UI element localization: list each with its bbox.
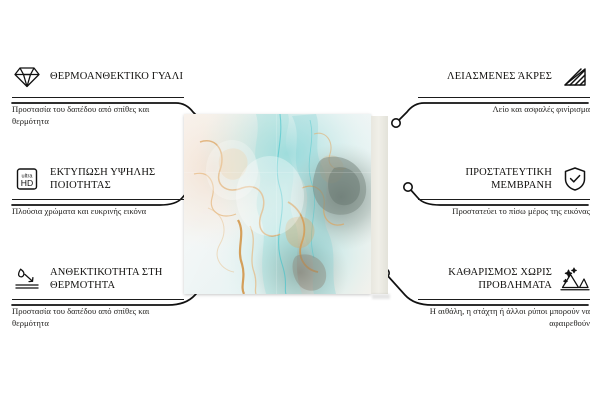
glass-reflection-overlay — [184, 114, 371, 294]
feature-divider — [12, 97, 184, 98]
product-image — [184, 114, 388, 294]
feature-title: ΠΡΟΣΤΑΤΕΥΤΙΚΗ ΜΕΜΒΡΑΝΗ — [418, 166, 552, 193]
panel-side-edge — [371, 116, 388, 294]
connector-dot-protective-film — [404, 183, 412, 191]
feature-title: ΘΕΡΜΟΑΝΘΕΚΤΙΚΟ ΓΥΑΛΙ — [50, 70, 183, 83]
polished-edges-icon — [560, 62, 590, 92]
feature-heat-glass: ΘΕΡΜΟΑΝΘΕΚΤΙΚΟ ΓΥΑΛΙ Προστασία του δαπέδ… — [12, 62, 184, 127]
feature-divider — [418, 97, 590, 98]
feature-heading: ΛΕΙΑΣΜΕΝΕΣ ΆΚΡΕΣ — [418, 62, 590, 92]
infographic-canvas: ΘΕΡΜΟΑΝΘΕΚΤΙΚΟ ΓΥΑΛΙ Προστασία του δαπέδ… — [0, 0, 600, 400]
feature-polished-edges: ΛΕΙΑΣΜΕΝΕΣ ΆΚΡΕΣ Λείο και ασφαλές φινίρι… — [418, 62, 590, 115]
feature-divider — [12, 199, 184, 200]
feature-title: ΚΑΘΑΡΙΣΜΟΣ ΧΩΡΙΣ ΠΡΟΒΛΗΜΑΤΑ — [418, 266, 552, 293]
feature-divider — [12, 299, 184, 300]
feature-description: Προστασία του δαπέδου από σπίθες και θερ… — [12, 103, 184, 127]
connector-dot-polished-edges — [392, 119, 400, 127]
feature-description: Λείο και ασφαλές φινίρισμα — [418, 103, 590, 115]
feature-print-quality: ultra HD ΕΚΤΥΠΩΣΗ ΥΨΗΛΗΣ ΠΟΙΟΤΗΤΑΣ Πλούσ… — [12, 164, 184, 217]
feature-description: Πλούσια χρώματα και ευκρινής εικόνα — [12, 205, 184, 217]
ultra-hd-bottom-text: HD — [21, 178, 33, 188]
glass-panel — [184, 114, 371, 294]
feature-heading: ΠΡΟΣΤΑΤΕΥΤΙΚΗ ΜΕΜΒΡΑΝΗ — [418, 164, 590, 194]
flame-heat-resistance-icon — [12, 264, 42, 294]
feature-title: ΑΝΘΕΚΤΙΚΟΤΗΤΑ ΣΤΗ ΘΕΡΜΟΤΗΤΑ — [50, 266, 184, 293]
feature-heading: ΘΕΡΜΟΑΝΘΕΚΤΙΚΟ ΓΥΑΛΙ — [12, 62, 184, 92]
feature-divider — [418, 199, 590, 200]
feature-title: ΕΚΤΥΠΩΣΗ ΥΨΗΛΗΣ ΠΟΙΟΤΗΤΑΣ — [50, 166, 184, 193]
feature-protective-film: ΠΡΟΣΤΑΤΕΥΤΙΚΗ ΜΕΜΒΡΑΝΗ Προστατεύει το πί… — [418, 164, 590, 217]
feature-heading: ΚΑΘΑΡΙΣΜΟΣ ΧΩΡΙΣ ΠΡΟΒΛΗΜΑΤΑ — [418, 264, 590, 294]
diamond-icon — [12, 62, 42, 92]
ultra-hd-badge-icon: ultra HD — [12, 164, 42, 194]
feature-description: Προστατεύει το πίσω μέρος της εικόνας — [418, 205, 590, 217]
feature-easy-cleaning: ΚΑΘΑΡΙΣΜΟΣ ΧΩΡΙΣ ΠΡΟΒΛΗΜΑΤΑ Η αιθάλη, η … — [418, 264, 590, 329]
feature-title: ΛΕΙΑΣΜΕΝΕΣ ΆΚΡΕΣ — [447, 70, 552, 83]
feature-divider — [418, 299, 590, 300]
feature-heat-resistance: ΑΝΘΕΚΤΙΚΟΤΗΤΑ ΣΤΗ ΘΕΡΜΟΤΗΤΑ Προστασία το… — [12, 264, 184, 329]
shield-check-icon — [560, 164, 590, 194]
feature-description: Προστασία του δαπέδου από σπίθες και θερ… — [12, 305, 184, 329]
feature-heading: ultra HD ΕΚΤΥΠΩΣΗ ΥΨΗΛΗΣ ΠΟΙΟΤΗΤΑΣ — [12, 164, 184, 194]
feature-description: Η αιθάλη, η στάχτη ή άλλοι ρύποι μπορούν… — [418, 305, 590, 329]
panel-drop-shadow — [372, 294, 390, 299]
sparkle-clean-icon — [560, 264, 590, 294]
feature-heading: ΑΝΘΕΚΤΙΚΟΤΗΤΑ ΣΤΗ ΘΕΡΜΟΤΗΤΑ — [12, 264, 184, 294]
